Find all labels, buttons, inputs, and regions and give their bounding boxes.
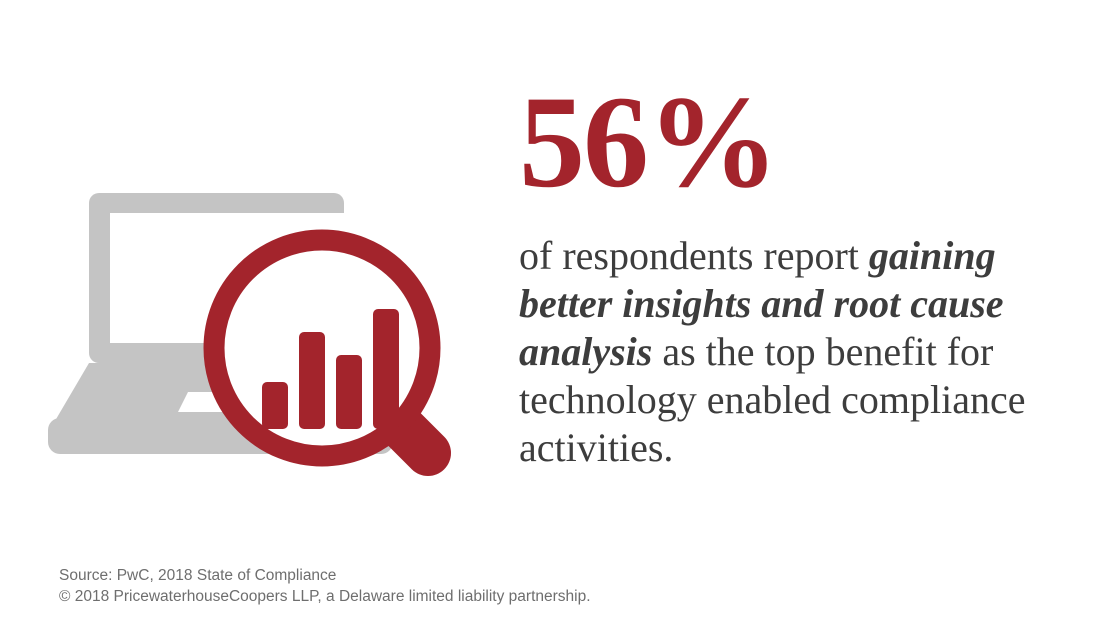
laptop-magnifier-illustration	[40, 150, 490, 480]
infographic-canvas: 56% of respondents report gaining better…	[0, 0, 1110, 624]
stat-block: 56% of respondents report gaining better…	[519, 76, 1079, 472]
footer: Source: PwC, 2018 State of Compliance © …	[59, 565, 959, 607]
bar-3	[336, 355, 362, 429]
footer-source: Source: PwC, 2018 State of Compliance	[59, 565, 959, 586]
stat-value: 56%	[519, 76, 1079, 208]
bar-1	[262, 382, 288, 429]
bar-2	[299, 332, 325, 429]
bar-4	[373, 309, 399, 429]
footer-copyright: © 2018 PricewaterhouseCoopers LLP, a Del…	[59, 586, 959, 607]
stat-description-lead: of respondents report	[519, 233, 869, 278]
stat-description: of respondents report gaining better ins…	[519, 232, 1079, 472]
magnifying-glass-icon	[204, 230, 440, 466]
